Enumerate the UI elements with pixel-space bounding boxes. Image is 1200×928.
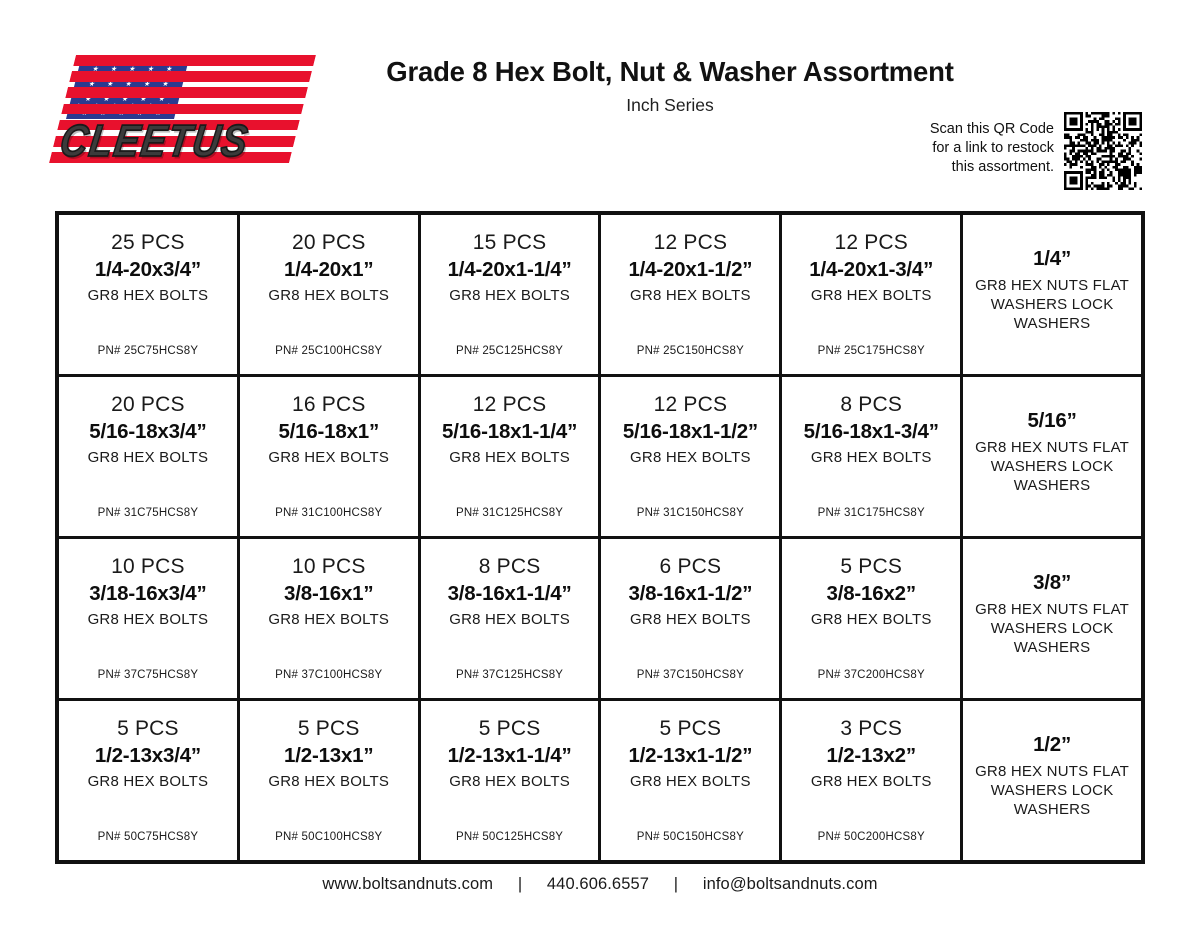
- cell-description: GR8 HEX NUTS FLAT WASHERS LOCK WASHERS: [969, 276, 1135, 333]
- cell-size: 1/2”: [1033, 732, 1071, 758]
- hardware-cell: 1/2”GR8 HEX NUTS FLAT WASHERS LOCK WASHE…: [963, 701, 1141, 860]
- hardware-cell: 3/8”GR8 HEX NUTS FLAT WASHERS LOCK WASHE…: [963, 539, 1141, 698]
- page-footer: www.boltsandnuts.com | 440.606.6557 | in…: [0, 875, 1200, 894]
- cell-size: 1/4-20x3/4”: [95, 257, 201, 283]
- cell-description: GR8 HEX NUTS FLAT WASHERS LOCK WASHERS: [969, 438, 1135, 495]
- cell-quantity: 10 PCS: [111, 553, 185, 580]
- bolt-cell: 25 PCS1/4-20x3/4”GR8 HEX BOLTSPN# 25C75H…: [59, 215, 240, 374]
- bolt-cell: 12 PCS1/4-20x1-1/2”GR8 HEX BOLTSPN# 25C1…: [601, 215, 782, 374]
- flag-stripe: [69, 71, 312, 82]
- cell-size: 5/16”: [1027, 408, 1076, 434]
- flag-stripe: [61, 104, 304, 115]
- cell-part-number: PN# 25C75HCS8Y: [59, 345, 237, 357]
- bolt-cell: 20 PCS5/16-18x3/4”GR8 HEX BOLTSPN# 31C75…: [59, 377, 240, 536]
- cell-part-number: PN# 50C150HCS8Y: [601, 831, 779, 843]
- cell-description: GR8 HEX BOLTS: [630, 448, 751, 467]
- cell-description: GR8 HEX BOLTS: [449, 772, 570, 791]
- qr-code-icon[interactable]: [1064, 112, 1142, 190]
- bolt-cell: 15 PCS1/4-20x1-1/4”GR8 HEX BOLTSPN# 25C1…: [421, 215, 602, 374]
- hardware-cell: 5/16”GR8 HEX NUTS FLAT WASHERS LOCK WASH…: [963, 377, 1141, 536]
- cell-description: GR8 HEX BOLTS: [88, 448, 209, 467]
- cell-size: 5/16-18x1-1/2”: [623, 419, 758, 445]
- cell-size: 1/4-20x1”: [284, 257, 373, 283]
- cleetus-logo: ★★★★★★★★★★★★★★★★★★★★★★★★★★★★★★★★★★★★★★★★…: [62, 55, 302, 185]
- cell-quantity: 20 PCS: [111, 391, 185, 418]
- cell-size: 5/16-18x1-1/4”: [442, 419, 577, 445]
- cell-description: GR8 HEX BOLTS: [88, 286, 209, 305]
- cell-part-number: PN# 50C200HCS8Y: [782, 831, 960, 843]
- cell-size: 1/2-13x1”: [284, 743, 373, 769]
- cell-size: 5/16-18x1”: [278, 419, 379, 445]
- table-row: 5 PCS1/2-13x3/4”GR8 HEX BOLTSPN# 50C75HC…: [59, 701, 1141, 860]
- bolt-cell: 16 PCS5/16-18x1”GR8 HEX BOLTSPN# 31C100H…: [240, 377, 421, 536]
- bolt-cell: 10 PCS3/8-16x1”GR8 HEX BOLTSPN# 37C100HC…: [240, 539, 421, 698]
- qr-instructions: Scan this QR Code for a link to restock …: [930, 112, 1054, 177]
- cell-quantity: 12 PCS: [834, 229, 908, 256]
- cell-part-number: PN# 31C150HCS8Y: [601, 507, 779, 519]
- cell-description: GR8 HEX BOLTS: [88, 772, 209, 791]
- cell-description: GR8 HEX BOLTS: [630, 772, 751, 791]
- cell-part-number: PN# 37C100HCS8Y: [240, 669, 418, 681]
- cell-quantity: 5 PCS: [840, 553, 902, 580]
- page-header: ★★★★★★★★★★★★★★★★★★★★★★★★★★★★★★★★★★★★★★★★…: [0, 0, 1200, 205]
- cell-part-number: PN# 37C75HCS8Y: [59, 669, 237, 681]
- cell-size: 1/2-13x2”: [827, 743, 916, 769]
- cell-size: 5/16-18x1-3/4”: [804, 419, 939, 445]
- bolt-cell: 3 PCS1/2-13x2”GR8 HEX BOLTSPN# 50C200HCS…: [782, 701, 963, 860]
- cell-part-number: PN# 31C100HCS8Y: [240, 507, 418, 519]
- cell-size: 3/8”: [1033, 570, 1071, 596]
- cell-quantity: 3 PCS: [840, 715, 902, 742]
- cell-part-number: PN# 31C125HCS8Y: [421, 507, 599, 519]
- hardware-cell: 1/4”GR8 HEX NUTS FLAT WASHERS LOCK WASHE…: [963, 215, 1141, 374]
- cell-quantity: 5 PCS: [117, 715, 179, 742]
- cell-quantity: 5 PCS: [298, 715, 360, 742]
- assortment-label-page: ★★★★★★★★★★★★★★★★★★★★★★★★★★★★★★★★★★★★★★★★…: [0, 0, 1200, 928]
- cell-part-number: PN# 50C75HCS8Y: [59, 831, 237, 843]
- cell-description: GR8 HEX BOLTS: [268, 772, 389, 791]
- cell-size: 1/2-13x3/4”: [95, 743, 201, 769]
- cell-quantity: 15 PCS: [473, 229, 547, 256]
- cell-description: GR8 HEX BOLTS: [811, 772, 932, 791]
- cell-size: 5/16-18x3/4”: [89, 419, 206, 445]
- qr-block: Scan this QR Code for a link to restock …: [930, 112, 1142, 190]
- bolt-cell: 6 PCS3/8-16x1-1/2”GR8 HEX BOLTSPN# 37C15…: [601, 539, 782, 698]
- cell-description: GR8 HEX BOLTS: [811, 610, 932, 629]
- cell-part-number: PN# 37C125HCS8Y: [421, 669, 599, 681]
- cell-part-number: PN# 37C200HCS8Y: [782, 669, 960, 681]
- cell-size: 3/18-16x3/4”: [89, 581, 206, 607]
- cell-size: 1/2-13x1-1/2”: [628, 743, 752, 769]
- cell-description: GR8 HEX BOLTS: [268, 286, 389, 305]
- cell-description: GR8 HEX BOLTS: [811, 286, 932, 305]
- cell-quantity: 5 PCS: [660, 715, 722, 742]
- table-row: 10 PCS3/18-16x3/4”GR8 HEX BOLTSPN# 37C75…: [59, 539, 1141, 701]
- cell-description: GR8 HEX BOLTS: [630, 610, 751, 629]
- cell-quantity: 20 PCS: [292, 229, 366, 256]
- cell-part-number: PN# 31C175HCS8Y: [782, 507, 960, 519]
- bolt-cell: 12 PCS5/16-18x1-1/4”GR8 HEX BOLTSPN# 31C…: [421, 377, 602, 536]
- cell-quantity: 12 PCS: [473, 391, 547, 418]
- cell-description: GR8 HEX BOLTS: [811, 448, 932, 467]
- cell-description: GR8 HEX BOLTS: [268, 610, 389, 629]
- cell-quantity: 8 PCS: [840, 391, 902, 418]
- cell-part-number: PN# 31C75HCS8Y: [59, 507, 237, 519]
- bolt-cell: 5 PCS3/8-16x2”GR8 HEX BOLTSPN# 37C200HCS…: [782, 539, 963, 698]
- cell-quantity: 5 PCS: [479, 715, 541, 742]
- cell-part-number: PN# 50C100HCS8Y: [240, 831, 418, 843]
- assortment-grid: 25 PCS1/4-20x3/4”GR8 HEX BOLTSPN# 25C75H…: [55, 211, 1145, 864]
- cell-description: GR8 HEX NUTS FLAT WASHERS LOCK WASHERS: [969, 600, 1135, 657]
- bolt-cell: 5 PCS1/2-13x1”GR8 HEX BOLTSPN# 50C100HCS…: [240, 701, 421, 860]
- cell-part-number: PN# 37C150HCS8Y: [601, 669, 779, 681]
- cell-part-number: PN# 25C150HCS8Y: [601, 345, 779, 357]
- bolt-cell: 8 PCS3/8-16x1-1/4”GR8 HEX BOLTSPN# 37C12…: [421, 539, 602, 698]
- cell-size: 3/8-16x2”: [827, 581, 916, 607]
- cell-part-number: PN# 25C100HCS8Y: [240, 345, 418, 357]
- footer-phone[interactable]: 440.606.6557: [547, 875, 649, 894]
- footer-email[interactable]: info@boltsandnuts.com: [703, 875, 878, 894]
- cell-size: 1/4-20x1-1/4”: [448, 257, 572, 283]
- cell-size: 1/4-20x1-3/4”: [809, 257, 933, 283]
- bolt-cell: 5 PCS1/2-13x3/4”GR8 HEX BOLTSPN# 50C75HC…: [59, 701, 240, 860]
- cell-quantity: 10 PCS: [292, 553, 366, 580]
- cell-part-number: PN# 50C125HCS8Y: [421, 831, 599, 843]
- bolt-cell: 12 PCS1/4-20x1-3/4”GR8 HEX BOLTSPN# 25C1…: [782, 215, 963, 374]
- footer-separator-2: |: [654, 875, 698, 894]
- cell-quantity: 12 PCS: [654, 229, 728, 256]
- flag-stripe: [65, 87, 308, 98]
- cell-part-number: PN# 25C175HCS8Y: [782, 345, 960, 357]
- cell-description: GR8 HEX BOLTS: [449, 610, 570, 629]
- cell-description: GR8 HEX BOLTS: [88, 610, 209, 629]
- title-block: Grade 8 Hex Bolt, Nut & Washer Assortmen…: [280, 55, 1060, 116]
- cell-description: GR8 HEX BOLTS: [630, 286, 751, 305]
- bolt-cell: 12 PCS5/16-18x1-1/2”GR8 HEX BOLTSPN# 31C…: [601, 377, 782, 536]
- cell-size: 3/8-16x1”: [284, 581, 373, 607]
- page-title: Grade 8 Hex Bolt, Nut & Washer Assortmen…: [280, 55, 1060, 89]
- cell-size: 3/8-16x1-1/4”: [448, 581, 572, 607]
- table-row: 25 PCS1/4-20x3/4”GR8 HEX BOLTSPN# 25C75H…: [59, 215, 1141, 377]
- cell-size: 1/4-20x1-1/2”: [628, 257, 752, 283]
- logo-wordmark: CLEETUS: [57, 117, 252, 168]
- footer-website[interactable]: www.boltsandnuts.com: [322, 875, 493, 894]
- cell-size: 3/8-16x1-1/2”: [628, 581, 752, 607]
- footer-separator-1: |: [498, 875, 542, 894]
- bolt-cell: 8 PCS5/16-18x1-3/4”GR8 HEX BOLTSPN# 31C1…: [782, 377, 963, 536]
- cell-part-number: PN# 25C125HCS8Y: [421, 345, 599, 357]
- cell-quantity: 6 PCS: [660, 553, 722, 580]
- cell-size: 1/4”: [1033, 246, 1071, 272]
- bolt-cell: 20 PCS1/4-20x1”GR8 HEX BOLTSPN# 25C100HC…: [240, 215, 421, 374]
- cell-description: GR8 HEX BOLTS: [449, 448, 570, 467]
- cell-description: GR8 HEX NUTS FLAT WASHERS LOCK WASHERS: [969, 762, 1135, 819]
- cell-quantity: 12 PCS: [654, 391, 728, 418]
- table-row: 20 PCS5/16-18x3/4”GR8 HEX BOLTSPN# 31C75…: [59, 377, 1141, 539]
- cell-quantity: 8 PCS: [479, 553, 541, 580]
- cell-size: 1/2-13x1-1/4”: [448, 743, 572, 769]
- bolt-cell: 5 PCS1/2-13x1-1/2”GR8 HEX BOLTSPN# 50C15…: [601, 701, 782, 860]
- bolt-cell: 10 PCS3/18-16x3/4”GR8 HEX BOLTSPN# 37C75…: [59, 539, 240, 698]
- bolt-cell: 5 PCS1/2-13x1-1/4”GR8 HEX BOLTSPN# 50C12…: [421, 701, 602, 860]
- cell-description: GR8 HEX BOLTS: [449, 286, 570, 305]
- cell-description: GR8 HEX BOLTS: [268, 448, 389, 467]
- cell-quantity: 16 PCS: [292, 391, 366, 418]
- cell-quantity: 25 PCS: [111, 229, 185, 256]
